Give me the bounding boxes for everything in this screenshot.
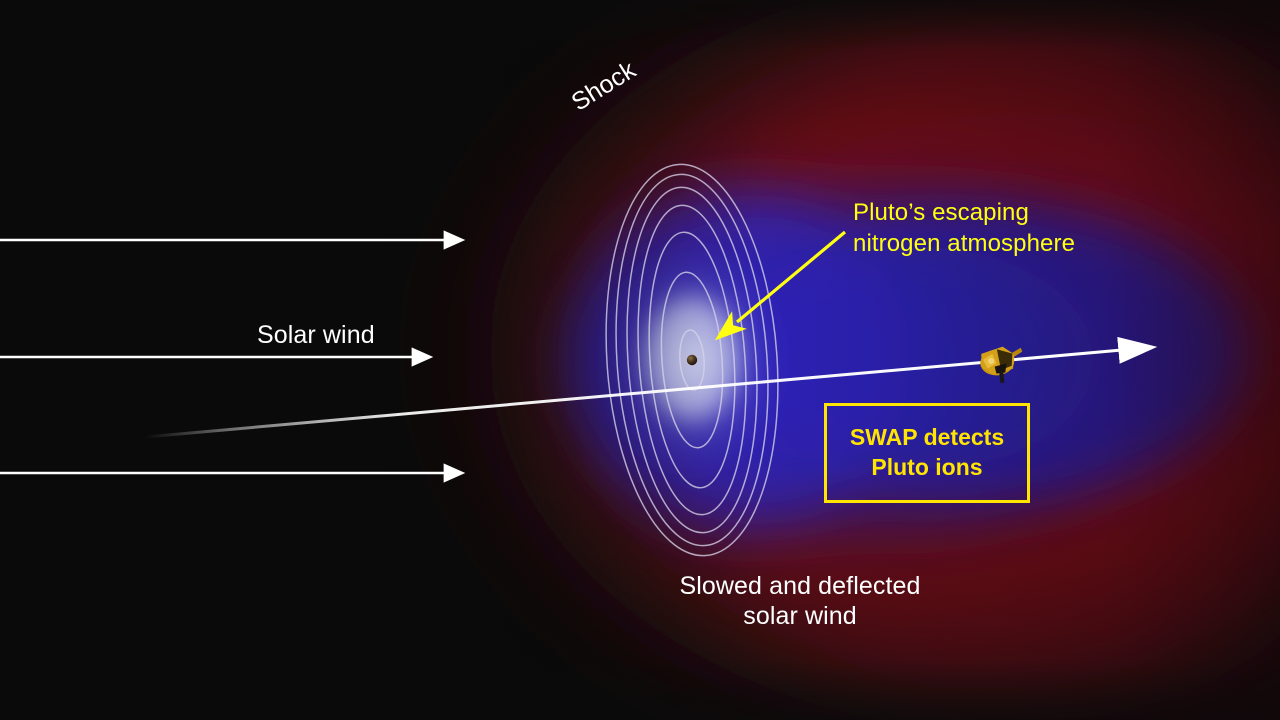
atmosphere-pointer-arrow bbox=[737, 232, 845, 322]
solar-wind-arrows bbox=[0, 240, 447, 473]
swap-callout-text: SWAP detects Pluto ions bbox=[850, 423, 1004, 483]
new-horizons-spacecraft bbox=[979, 345, 1026, 385]
diagram-canvas: Shock Solar wind Slowed and deflected so… bbox=[0, 0, 1280, 720]
solar-wind-label: Solar wind bbox=[257, 320, 375, 350]
escaping-nitrogen-atmosphere-label: Pluto’s escaping nitrogen atmosphere bbox=[853, 198, 1075, 259]
pluto-body bbox=[687, 355, 697, 365]
slowed-deflected-solar-wind-label: Slowed and deflected solar wind bbox=[650, 571, 950, 631]
swap-detection-callout-box: SWAP detects Pluto ions bbox=[824, 403, 1030, 503]
overlay-layer bbox=[0, 0, 1280, 720]
